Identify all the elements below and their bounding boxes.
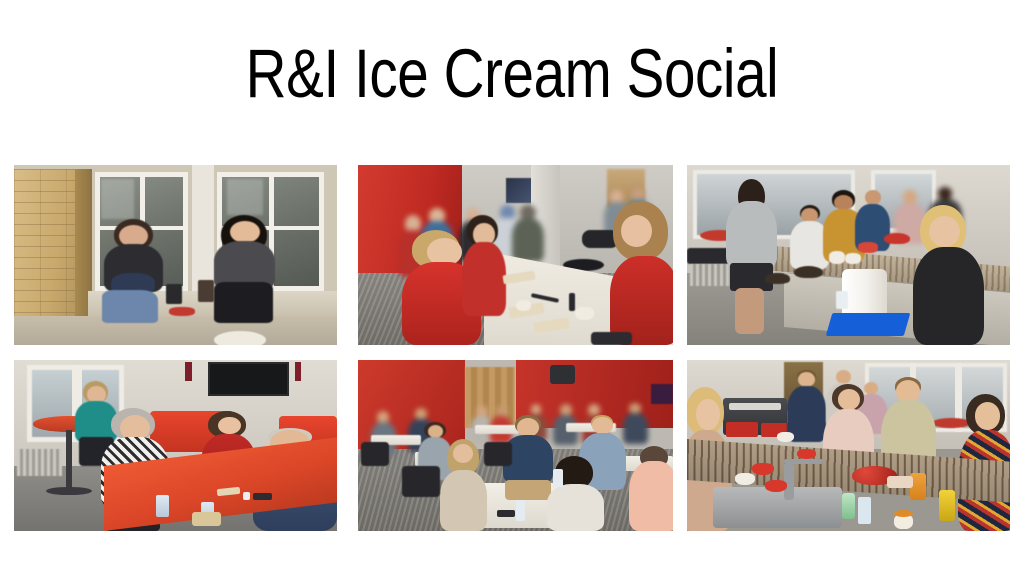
bowl xyxy=(214,331,266,345)
phone xyxy=(253,493,272,500)
photo-scene xyxy=(358,165,673,345)
wall-banner xyxy=(295,362,301,381)
water-bottle xyxy=(156,495,169,517)
radiator xyxy=(17,449,62,476)
photo-grid xyxy=(14,165,1010,531)
ceiling-projector xyxy=(550,365,575,384)
spoon xyxy=(243,492,249,501)
photo-bottom-left[interactable] xyxy=(14,360,337,531)
office-chair xyxy=(484,442,512,466)
ice-cream-cup xyxy=(845,253,861,264)
table-post xyxy=(66,430,72,488)
photo-scene xyxy=(14,165,337,345)
window-reflection xyxy=(101,179,133,219)
person-navy-polo xyxy=(787,370,826,442)
topping-bowl xyxy=(794,266,823,279)
topping-bowl xyxy=(884,233,910,244)
cup xyxy=(169,307,195,316)
photo-top-center[interactable] xyxy=(358,165,673,345)
person-right-red xyxy=(610,201,673,345)
ice-cream-cup xyxy=(575,307,594,320)
person-seated xyxy=(440,439,487,531)
kitchen-sink xyxy=(713,487,842,528)
tumbler xyxy=(198,280,214,302)
photo-bottom-right[interactable] xyxy=(687,360,1010,531)
background-person xyxy=(623,403,648,444)
ground xyxy=(14,316,337,345)
photo-scene xyxy=(687,360,1010,531)
faucet-spout xyxy=(784,459,823,464)
topping-bowl xyxy=(765,273,791,284)
phone xyxy=(591,332,632,345)
water-bottle xyxy=(553,469,562,486)
machine-panel xyxy=(729,403,781,410)
person-seated-left xyxy=(98,219,169,323)
ice-cream-cup xyxy=(516,300,532,311)
napkin xyxy=(192,512,221,526)
water-bottle xyxy=(836,291,849,309)
phone xyxy=(497,510,516,517)
water-bottle xyxy=(858,497,871,524)
ice-cream-cup xyxy=(777,432,793,442)
person-right-edge xyxy=(629,446,673,532)
blue-mat xyxy=(826,313,910,336)
spoon xyxy=(569,293,575,311)
person-foreground-blonde xyxy=(913,205,984,345)
office-chair xyxy=(361,442,389,466)
ice-cream-cup xyxy=(752,463,775,475)
water-bottle xyxy=(516,500,525,521)
snack-bowl xyxy=(887,476,913,488)
ice-cream-cup xyxy=(829,251,845,264)
photo-top-left[interactable] xyxy=(14,165,337,345)
ice-cream-cup xyxy=(735,473,754,485)
person-mid-red xyxy=(462,215,506,316)
photo-scene xyxy=(687,165,1010,345)
ice-cream-cup xyxy=(797,449,816,459)
window-reflection xyxy=(227,179,263,215)
person-back-to-camera xyxy=(547,456,604,531)
photo-scene xyxy=(358,360,673,531)
office-chair xyxy=(402,466,440,497)
background-person xyxy=(512,205,544,263)
photo-bottom-center[interactable] xyxy=(358,360,673,531)
photo-top-right[interactable] xyxy=(687,165,1010,345)
tumbler xyxy=(166,284,182,304)
person-seated-right xyxy=(208,215,282,323)
table-base xyxy=(46,487,91,496)
ice-cream-cup xyxy=(858,242,877,253)
topping-bottle xyxy=(939,490,955,521)
wall-banner xyxy=(185,362,191,381)
wall-television xyxy=(208,362,289,396)
ice-cream-cup xyxy=(765,480,788,492)
soap-dispenser xyxy=(842,493,855,519)
photo-scene xyxy=(14,360,337,531)
page-title: R&I Ice Cream Social xyxy=(92,36,932,112)
person-foreground-grey xyxy=(726,179,778,334)
wall-artwork xyxy=(651,384,673,405)
